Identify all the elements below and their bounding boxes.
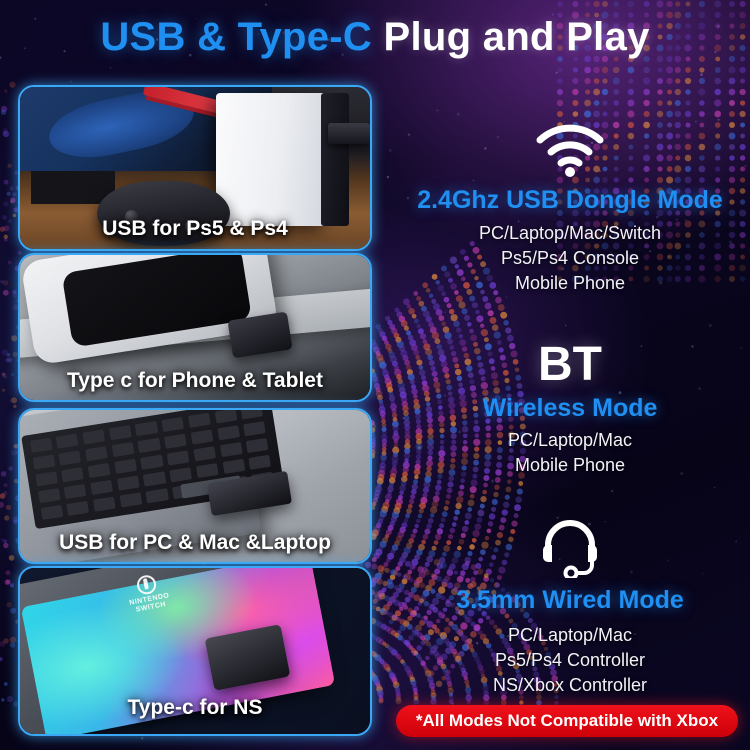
keyboard-key — [111, 442, 134, 457]
photo-caption: Type-c for NS — [20, 696, 370, 720]
phone-screen — [62, 253, 253, 348]
keyboard-key — [164, 433, 187, 448]
mode-line: NS/Xbox Controller — [390, 673, 750, 698]
mode-line: PC/Laptop/Mac/Switch — [390, 221, 750, 246]
mode-line: Mobile Phone — [390, 453, 750, 478]
keyboard-key — [140, 454, 163, 469]
keyboard-key — [146, 488, 169, 503]
keyboard-key — [30, 437, 53, 452]
keyboard-key — [161, 417, 184, 432]
headset-icon — [538, 516, 602, 578]
mode-heading: 2.4Ghz USB Dongle Mode — [390, 186, 750, 215]
mode-block-dongle: 2.4Ghz USB Dongle Mode PC/Laptop/Mac/Swi… — [390, 122, 750, 296]
keyboard-key — [188, 412, 211, 427]
mode-block-wired: 3.5mm Wired Mode PC/Laptop/Mac Ps5/Ps4 C… — [390, 516, 750, 698]
keyboard-key — [246, 438, 269, 453]
mode-line: Mobile Phone — [390, 271, 750, 296]
compatibility-warning-badge: *All Modes Not Compatible with Xbox — [396, 705, 738, 737]
keyboard-key — [90, 479, 113, 494]
photo-caption: USB for PC & Mac &Laptop — [20, 531, 370, 555]
keyboard-key — [40, 504, 63, 519]
keyboard-key — [109, 425, 132, 440]
keyboard-key — [143, 471, 166, 486]
keyboard-key — [67, 500, 90, 515]
keyboard-key — [82, 429, 105, 444]
keyboard-key — [114, 458, 137, 473]
mode-heading: Wireless Mode — [390, 394, 750, 423]
photo-panel-phone: Type c for Phone & Tablet — [18, 253, 372, 402]
bluetooth-label: BT — [390, 340, 750, 390]
keyboard-key — [243, 421, 266, 436]
photo-caption: Type c for Phone & Tablet — [20, 369, 370, 393]
keyboard-key — [93, 496, 116, 511]
mode-line: PC/Laptop/Mac — [390, 428, 750, 453]
mode-block-bluetooth: BT Wireless Mode PC/Laptop/Mac Mobile Ph… — [390, 340, 750, 478]
keyboard-key — [88, 463, 111, 478]
keyboard-key — [193, 446, 216, 461]
keyboard-key — [64, 484, 87, 499]
keyboard-key — [196, 463, 219, 478]
keyboard-key — [222, 458, 245, 473]
title-highlight: USB & Type-C — [100, 15, 372, 59]
keyboard-key — [214, 408, 237, 423]
keyboard-key — [32, 454, 55, 469]
keyboard-key — [167, 450, 190, 465]
title-rest: Plug and Play — [384, 15, 650, 59]
keyboard-key — [61, 467, 84, 482]
keyboard-key — [241, 408, 264, 419]
mode-line: Ps5/Ps4 Controller — [390, 648, 750, 673]
product-feature-image: USB & Type-C Plug and Play USB for Ps5 &… — [0, 0, 750, 750]
keyboard-key — [169, 467, 192, 482]
keyboard-key — [217, 425, 240, 440]
photo-panel-ps5: USB for Ps5 & Ps4 — [18, 85, 372, 251]
wifi-icon — [534, 122, 606, 178]
photo-caption: USB for Ps5 & Ps4 — [20, 217, 370, 241]
mode-line: PC/Laptop/Mac — [390, 623, 750, 648]
keyboard-key — [190, 429, 213, 444]
keyboard-key — [249, 454, 272, 469]
keyboard-key — [117, 475, 140, 490]
photo-panel-switch: NINTENDO SWITCH Type-c for NS — [18, 566, 372, 736]
keyboard-key — [220, 442, 243, 457]
ps5-console-white — [216, 93, 328, 226]
keyboard-key — [56, 433, 79, 448]
page-title: USB & Type-C Plug and Play — [0, 14, 750, 60]
switch-logo-ring — [135, 573, 157, 595]
usb-dongle — [328, 123, 370, 144]
mode-line: Ps5/Ps4 Console — [390, 246, 750, 271]
keyboard-key — [135, 421, 158, 436]
keyboard-key — [119, 492, 142, 507]
ps5-console-black — [321, 93, 349, 226]
keyboard-key — [59, 450, 82, 465]
keyboard-key — [138, 437, 161, 452]
keyboard-key — [37, 488, 60, 503]
photo-panel-laptop: USB for PC & Mac &Laptop — [18, 408, 372, 564]
keyboard-key — [85, 446, 108, 461]
keyboard-key — [35, 471, 58, 486]
mode-heading: 3.5mm Wired Mode — [390, 586, 750, 615]
